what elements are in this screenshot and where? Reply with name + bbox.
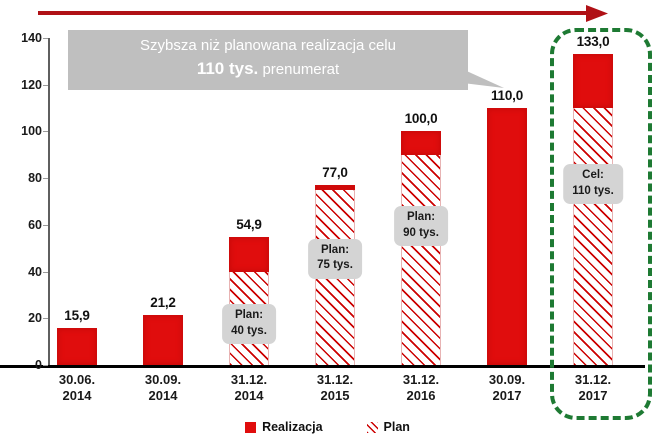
x-axis-label: 30.06.2014 bbox=[37, 372, 117, 405]
x-axis-label: 31.12.2014 bbox=[209, 372, 289, 405]
x-axis-label-line-2: 2014 bbox=[123, 388, 203, 404]
legend-item-label: Realizacja bbox=[262, 420, 322, 434]
target-highlight-box bbox=[550, 28, 652, 420]
progress-arrow-icon bbox=[38, 4, 608, 24]
bar-annotation-chip: Plan:40 tys. bbox=[222, 304, 276, 344]
legend-item[interactable]: Realizacja bbox=[245, 420, 322, 434]
bar-segment-realizacja bbox=[143, 315, 183, 365]
y-tick-label: 40 bbox=[6, 265, 42, 279]
y-tick-label: 140 bbox=[6, 31, 42, 45]
x-axis-label: 30.09.2017 bbox=[467, 372, 547, 405]
bar-value-label: 100,0 bbox=[405, 111, 438, 126]
bar-value-label: 15,9 bbox=[64, 308, 89, 323]
y-tick-label: 20 bbox=[6, 311, 42, 325]
banner-line-1: Szybsza niż planowana realizacja celu bbox=[78, 37, 458, 56]
x-axis-label: 31.12.2015 bbox=[295, 372, 375, 405]
x-axis-label-line-1: 31.12. bbox=[209, 372, 289, 388]
y-tick-mark bbox=[43, 131, 48, 132]
legend-item[interactable]: Plan bbox=[367, 420, 410, 434]
x-axis-label-line-1: 30.09. bbox=[467, 372, 547, 388]
chip-line-2: 75 tys. bbox=[317, 258, 353, 274]
bar-segment-realizacja bbox=[229, 237, 269, 272]
hatched-swatch-icon bbox=[367, 422, 378, 433]
y-tick-mark bbox=[43, 85, 48, 86]
chip-line-1: Plan: bbox=[231, 308, 267, 324]
chip-line-2: 90 tys. bbox=[403, 226, 439, 242]
bar-segment-realizacja bbox=[401, 131, 441, 154]
x-axis-label-line-1: 31.12. bbox=[381, 372, 461, 388]
y-tick-label: 0 bbox=[6, 358, 42, 372]
x-axis-label-line-1: 30.06. bbox=[37, 372, 117, 388]
chip-line-1: Plan: bbox=[403, 210, 439, 226]
y-tick-label: 60 bbox=[6, 218, 42, 232]
bar-value-label: 54,9 bbox=[236, 217, 261, 232]
banner-line-2-rest: prenumerat bbox=[258, 61, 339, 78]
callout-tail bbox=[438, 58, 510, 95]
callout-tail-icon bbox=[438, 58, 510, 90]
y-tick-mark bbox=[43, 178, 48, 179]
y-tick-label: 120 bbox=[6, 78, 42, 92]
bar-annotation-chip: Plan:90 tys. bbox=[394, 206, 448, 246]
x-axis-label-line-2: 2014 bbox=[209, 388, 289, 404]
chart-legend: RealizacjaPlan bbox=[0, 420, 655, 434]
y-axis-line bbox=[48, 38, 50, 365]
banner-line-2-bold: 110 tys. bbox=[197, 59, 258, 78]
chip-line-1: Plan: bbox=[317, 243, 353, 259]
progress-arrow bbox=[38, 4, 608, 24]
bar-segment-realizacja bbox=[315, 185, 355, 190]
y-tick-mark bbox=[43, 365, 48, 366]
x-axis-label: 31.12.2016 bbox=[381, 372, 461, 405]
x-axis-label-line-1: 31.12. bbox=[295, 372, 375, 388]
x-axis-label-line-2: 2016 bbox=[381, 388, 461, 404]
callout-banner: Szybsza niż planowana realizacja celu 11… bbox=[68, 30, 468, 90]
x-axis-label-line-2: 2014 bbox=[37, 388, 117, 404]
bar-segment-realizacja bbox=[57, 328, 97, 365]
x-axis-label-line-2: 2015 bbox=[295, 388, 375, 404]
bar-value-label: 77,0 bbox=[322, 165, 347, 180]
x-axis-label: 30.09.2014 bbox=[123, 372, 203, 405]
y-tick-label: 100 bbox=[6, 124, 42, 138]
chip-line-2: 40 tys. bbox=[231, 324, 267, 340]
y-tick-mark bbox=[43, 225, 48, 226]
y-tick-mark bbox=[43, 318, 48, 319]
x-axis-line bbox=[0, 365, 645, 368]
chart-canvas: 140120100806040200 15,921,254,9Plan:40 t… bbox=[0, 0, 655, 446]
x-axis-label-line-1: 30.09. bbox=[123, 372, 203, 388]
bar-value-label: 21,2 bbox=[150, 295, 175, 310]
legend-item-label: Plan bbox=[384, 420, 410, 434]
y-tick-mark bbox=[43, 272, 48, 273]
red-square-swatch-icon bbox=[245, 422, 256, 433]
bar-segment-plan bbox=[401, 155, 441, 365]
banner-line-2: 110 tys. prenumerat bbox=[78, 58, 458, 81]
y-tick-label: 80 bbox=[6, 171, 42, 185]
bar-annotation-chip: Plan:75 tys. bbox=[308, 239, 362, 279]
bar-segment-realizacja bbox=[487, 108, 527, 365]
y-tick-mark bbox=[43, 38, 48, 39]
x-axis-label-line-2: 2017 bbox=[467, 388, 547, 404]
